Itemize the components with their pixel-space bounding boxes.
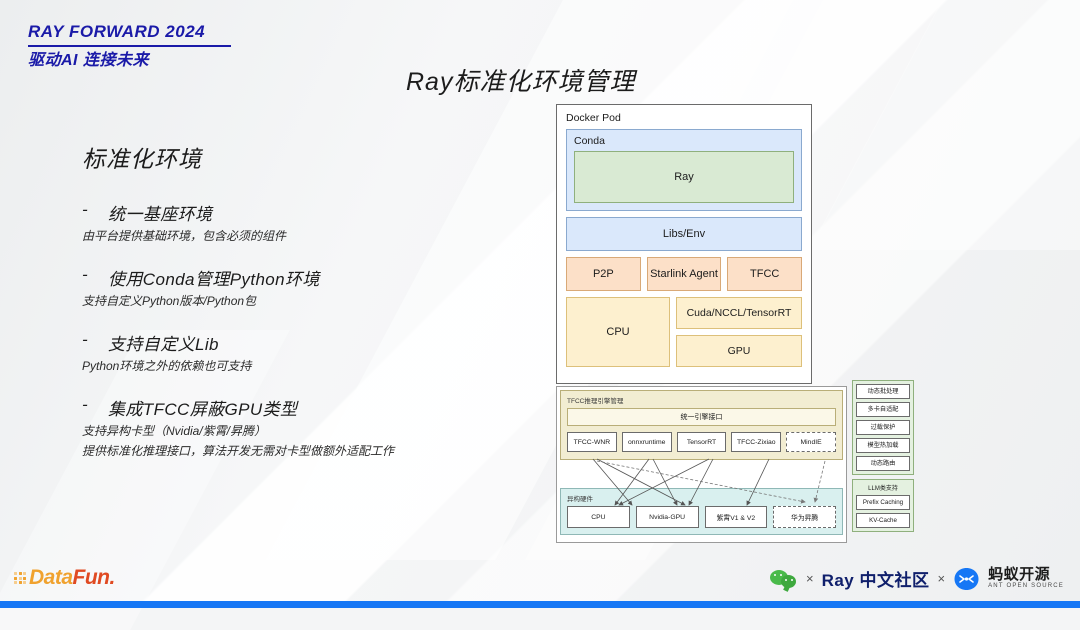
list-item: - 使用Conda管理Python环境 支持自定义Python版本/Python… (82, 265, 502, 310)
section-title: 标准化环境 (82, 140, 502, 174)
list-item: - 统一基座环境 由平台提供基础环境，包含必须的组件 (82, 200, 502, 245)
page-title: Ray标准化环境管理 (406, 62, 635, 98)
bullet-subtext-2: 提供标准化推理接口，算法开发无需对卡型做额外适配工作 (82, 443, 502, 460)
agent-box-tfcc: TFCC (727, 257, 802, 291)
unified-interface-box: 统一引擎接口 (567, 408, 836, 426)
engine-box-tfcc-wnr: TFCC-WNR (567, 432, 617, 452)
datafun-dots-icon (14, 572, 26, 584)
wechat-icon (770, 568, 798, 590)
libs-env-box: Libs/Env (566, 217, 802, 251)
brand-title: RAY FORWARD 2024 (28, 22, 231, 42)
docker-pod-label: Docker Pod (566, 112, 802, 124)
list-item: - 集成TFCC屏蔽GPU类型 支持异构卡型（Nvidia/紫霄/昇腾） 提供标… (82, 395, 502, 460)
slide-canvas: RAY FORWARD 2024 驱动AI 连接未来 Ray标准化环境管理 标准… (0, 0, 1080, 608)
hardware-box-huawei-ascend: 华为昇腾 (773, 506, 836, 528)
bullet-dash: - (82, 330, 108, 355)
datafun-word-b: Fun. (73, 566, 115, 589)
bullet-dash: - (82, 265, 108, 290)
datafun-logo: DataFun. (14, 566, 115, 590)
bullet-heading: - 集成TFCC屏蔽GPU类型 (82, 395, 502, 420)
bullet-dash: - (82, 395, 108, 420)
brand-divider (28, 45, 231, 47)
background-shape (809, 0, 1080, 250)
bullet-dash: - (82, 200, 108, 225)
engine-box-onnxruntime: onnxruntime (622, 432, 672, 452)
gpu-box: GPU (676, 335, 802, 367)
cpu-box: CPU (566, 297, 670, 367)
bullet-subtext: 支持自定义Python版本/Python包 (82, 293, 502, 310)
conda-label: Conda (574, 135, 794, 147)
bullet-heading-text: 使用Conda管理Python环境 (108, 265, 320, 290)
hardware-cell-row: CPU Nvidia-GPU 紫霄V1 & V2 华为昇腾 (567, 506, 836, 528)
feature-prefix-caching: Prefix Caching (856, 495, 910, 510)
separator-times-2: × (938, 571, 946, 586)
hardware-block-label: 异构硬件 (567, 493, 836, 503)
ray-chinese-community-label: Ray 中文社区 (822, 566, 930, 591)
gpu-column: Cuda/NCCL/TensorRT GPU (676, 297, 802, 367)
datafun-word-a: Data (29, 566, 73, 589)
feature-kv-cache: KV-Cache (856, 513, 910, 528)
feature-model-hot-loading: 模型热加载 (856, 438, 910, 453)
footer-accent-bar (0, 601, 1080, 608)
agent-box-starlink: Starlink Agent (647, 257, 722, 291)
left-content: 标准化环境 - 统一基座环境 由平台提供基础环境，包含必须的组件 - 使用Con… (82, 140, 502, 480)
engine-box-tfcc-zixiao: TFCC-Zixiao (731, 432, 781, 452)
feature-group-llm: LLM类支持 Prefix Caching KV-Cache (852, 479, 914, 532)
bullet-heading-text: 统一基座环境 (108, 200, 212, 225)
hardware-row: CPU Cuda/NCCL/TensorRT GPU (566, 297, 802, 367)
feature-rail: 动态批处理 多卡自适配 过载保护 模型热加载 动态路由 LLM类支持 Prefi… (852, 380, 914, 536)
hardware-box-nvidia-gpu: Nvidia-GPU (636, 506, 699, 528)
bullet-subtext: Python环境之外的依赖也可支持 (82, 358, 502, 375)
docker-pod-diagram: Docker Pod Conda Ray Libs/Env P2P Starli… (556, 104, 812, 384)
bullet-subtext: 由平台提供基础环境，包含必须的组件 (82, 228, 502, 245)
bullet-subtext: 支持异构卡型（Nvidia/紫霄/昇腾） (82, 423, 502, 440)
hardware-box-zixiao: 紫霄V1 & V2 (705, 506, 768, 528)
cuda-box: Cuda/NCCL/TensorRT (676, 297, 802, 329)
engine-box-tensorrt: TensorRT (677, 432, 727, 452)
ant-open-source-cn: 蚂蚁开源 (988, 567, 1064, 583)
conda-container: Conda Ray (566, 129, 802, 211)
brand-block: RAY FORWARD 2024 驱动AI 连接未来 (28, 22, 231, 71)
tfcc-diagram: TFCC推理引擎管理 统一引擎接口 TFCC-WNR onnxruntime T… (556, 386, 847, 543)
footer-partners: × Ray 中文社区 × 蚂蚁开源 ANT OPEN SOURCE (770, 566, 1064, 591)
heterogeneous-hardware-block: 异构硬件 CPU Nvidia-GPU 紫霄V1 & V2 华为昇腾 (560, 488, 843, 535)
agent-box-p2p: P2P (566, 257, 641, 291)
list-item: - 支持自定义Lib Python环境之外的依赖也可支持 (82, 330, 502, 375)
bullet-heading: - 支持自定义Lib (82, 330, 502, 355)
feature-dynamic-routing: 动态路由 (856, 456, 910, 471)
feature-dynamic-batching: 动态批处理 (856, 384, 910, 399)
llm-group-label: LLM类支持 (856, 483, 910, 492)
brand-subtitle: 驱动AI 连接未来 (28, 51, 231, 71)
engine-row: TFCC-WNR onnxruntime TensorRT TFCC-Zixia… (567, 432, 836, 452)
bullet-heading: - 统一基座环境 (82, 200, 502, 225)
agent-row: P2P Starlink Agent TFCC (566, 257, 802, 291)
ant-open-source-en: ANT OPEN SOURCE (988, 583, 1064, 589)
ant-open-source-wordmark: 蚂蚁开源 ANT OPEN SOURCE (988, 567, 1064, 589)
feature-overload-protection: 过载保护 (856, 420, 910, 435)
tfcc-engine-block: TFCC推理引擎管理 统一引擎接口 TFCC-WNR onnxruntime T… (560, 390, 843, 460)
ant-open-source-icon (953, 567, 980, 591)
bullet-heading: - 使用Conda管理Python环境 (82, 265, 502, 290)
bullet-heading-text: 支持自定义Lib (108, 330, 219, 355)
datafun-wordmark: DataFun. (29, 566, 115, 590)
bullet-heading-text: 集成TFCC屏蔽GPU类型 (108, 395, 297, 420)
tfcc-block-label: TFCC推理引擎管理 (567, 395, 836, 405)
separator-times-1: × (806, 571, 814, 586)
ray-box: Ray (574, 151, 794, 203)
feature-multi-card-adaptation: 多卡自适配 (856, 402, 910, 417)
engine-box-mindie: MindIE (786, 432, 836, 452)
hardware-box-cpu: CPU (567, 506, 630, 528)
feature-group-general: 动态批处理 多卡自适配 过载保护 模型热加载 动态路由 (852, 380, 914, 475)
